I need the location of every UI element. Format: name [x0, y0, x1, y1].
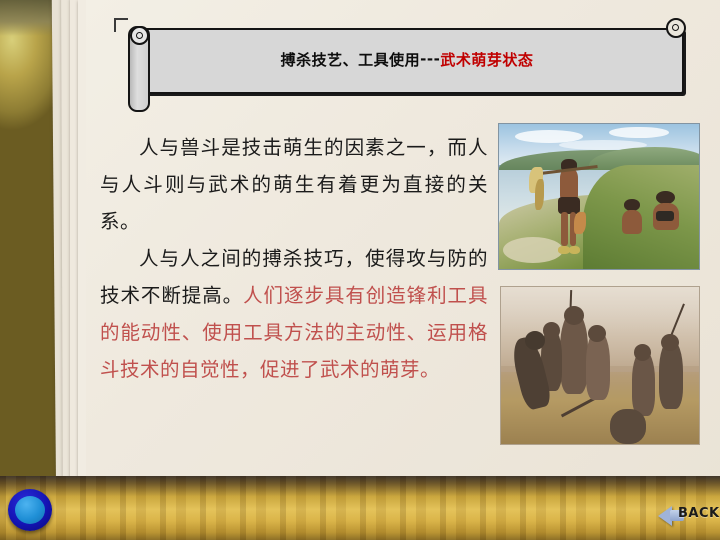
figure-crouching — [619, 199, 645, 243]
title-highlight: 武术萌芽状态 — [440, 49, 533, 70]
blue-circle-icon[interactable] — [8, 489, 52, 531]
image-tribal-combat — [500, 286, 700, 445]
paragraph-one: 人与兽斗是技击萌生的因素之一，而人与人斗则与武术的萌生有着更为直接的关系。 — [100, 130, 488, 241]
back-button-label: BACK — [678, 506, 720, 521]
figure-head — [634, 344, 652, 361]
banner-corner-bracket — [114, 18, 128, 32]
figure-fallen — [610, 409, 646, 444]
background-bottom-strip — [0, 476, 720, 540]
title-separator: --- — [420, 50, 440, 68]
figure-crouching — [651, 191, 681, 239]
figure-head — [543, 322, 561, 339]
figure-hunter — [547, 159, 591, 261]
title-banner: 搏杀技艺、工具使用---武术萌芽状态 — [112, 14, 702, 106]
presentation-slide: 搏杀技艺、工具使用---武术萌芽状态 人与兽斗是技击萌生的因素之一，而人与人斗则… — [0, 0, 720, 540]
figure-head — [564, 306, 584, 325]
back-button[interactable]: BACK — [658, 498, 716, 534]
figure-head — [525, 331, 545, 350]
figure-head — [588, 325, 606, 342]
paragraph-two: 人与人之间的搏杀技巧，使得攻与防的技术不断提高。人们逐步具有创造锋利工具的能动性… — [100, 241, 488, 389]
body-content: 人与兽斗是技击萌生的因素之一，而人与人斗则与武术的萌生有着更为直接的关系。 人与… — [100, 130, 488, 389]
title-main: 搏杀技艺、工具使用 — [281, 49, 421, 70]
image-primitive-fishing — [498, 123, 700, 270]
page-title: 搏杀技艺、工具使用---武术萌芽状态 — [134, 28, 680, 90]
